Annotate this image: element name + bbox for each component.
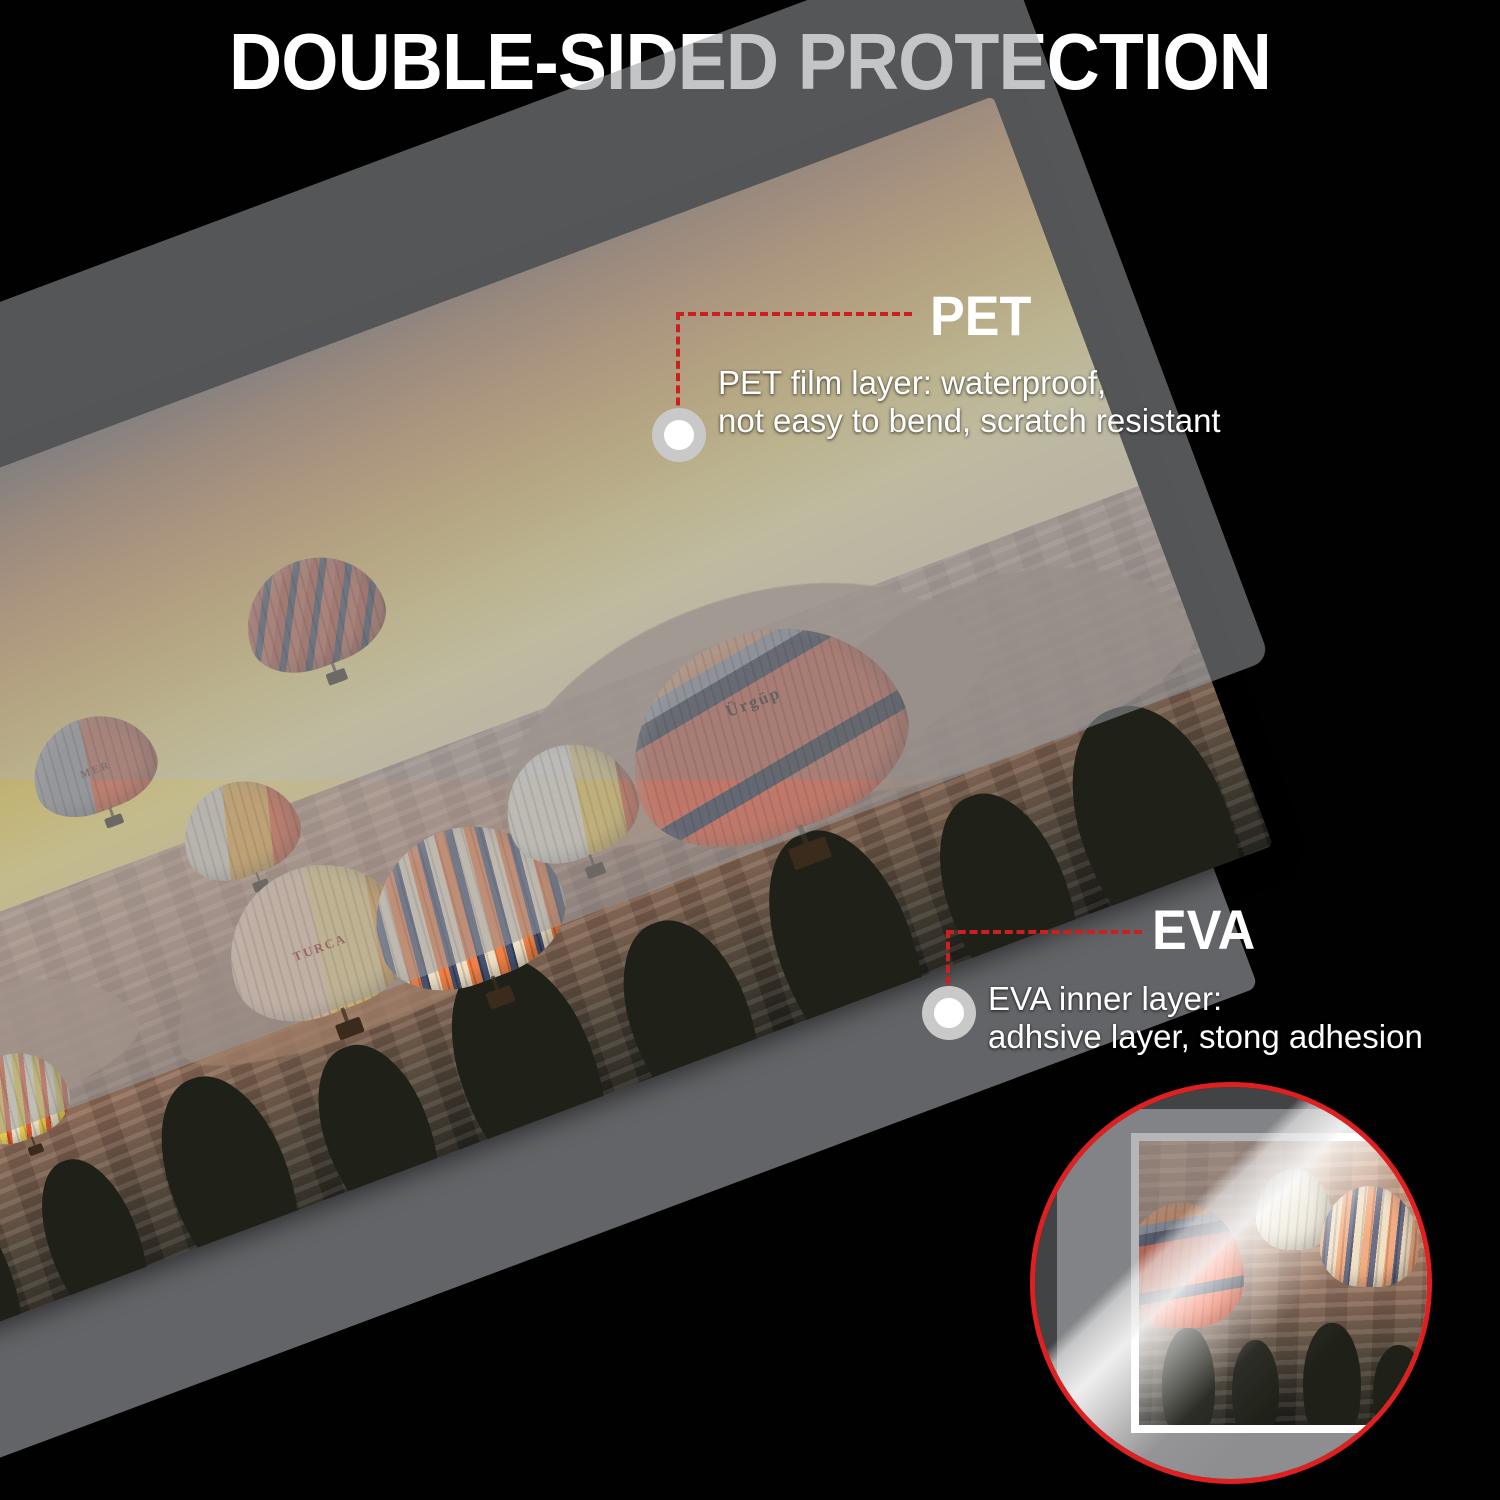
infographic-canvas: DOUBLE-SIDED PROTECTION [0, 0, 1500, 1500]
balloon-rope [491, 975, 500, 990]
magnifier-film-overlay [1035, 1087, 1427, 1479]
eva-body-line-2: adhsive layer, stong adhesion [988, 1016, 1423, 1058]
eva-body-line-1: EVA inner layer: [988, 978, 1222, 1020]
pet-body-line-1: PET film layer: waterproof, [718, 362, 1106, 404]
eva-marker-dot [922, 986, 976, 1040]
pet-connector-horizontal [676, 312, 912, 316]
pet-marker-dot [652, 408, 706, 462]
pet-heading: PET [930, 288, 1031, 344]
eva-heading: EVA [1152, 902, 1255, 958]
pet-body-line-2: not easy to bend, scratch resistant [718, 400, 1221, 442]
eva-connector-horizontal [946, 930, 1142, 934]
magnifier-detail [1030, 1082, 1432, 1484]
